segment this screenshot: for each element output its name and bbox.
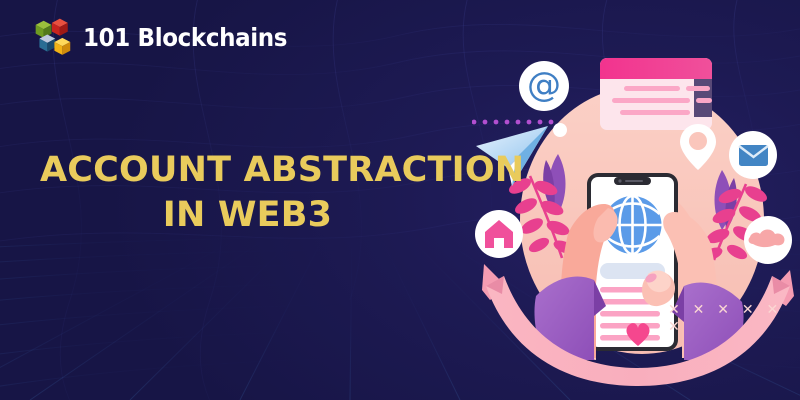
- logo-text: 101 Blockchains: [83, 25, 287, 50]
- cloud-badge: [744, 216, 792, 264]
- article-banner: 101 Blockchains ACCOUNT ABSTRACTION IN W…: [0, 0, 800, 400]
- decorative-dot: [553, 123, 567, 137]
- hero-illustration: @ ✕ ✕ ✕ ✕ ✕ ✕: [472, 38, 800, 386]
- dotted-line: [472, 120, 553, 125]
- page-title: ACCOUNT ABSTRACTION IN WEB3: [40, 148, 455, 238]
- card-window: [600, 58, 712, 130]
- svg-text:@: @: [527, 65, 561, 105]
- headline-line-2: IN WEB3: [40, 193, 455, 238]
- blockchain-cubes-icon: [34, 16, 74, 58]
- at-sign-badge: @: [519, 61, 569, 111]
- home-badge: [475, 210, 523, 258]
- headline-line-1: ACCOUNT ABSTRACTION: [40, 148, 455, 193]
- envelope-badge: [729, 131, 777, 179]
- site-logo[interactable]: 101 Blockchains: [34, 16, 305, 58]
